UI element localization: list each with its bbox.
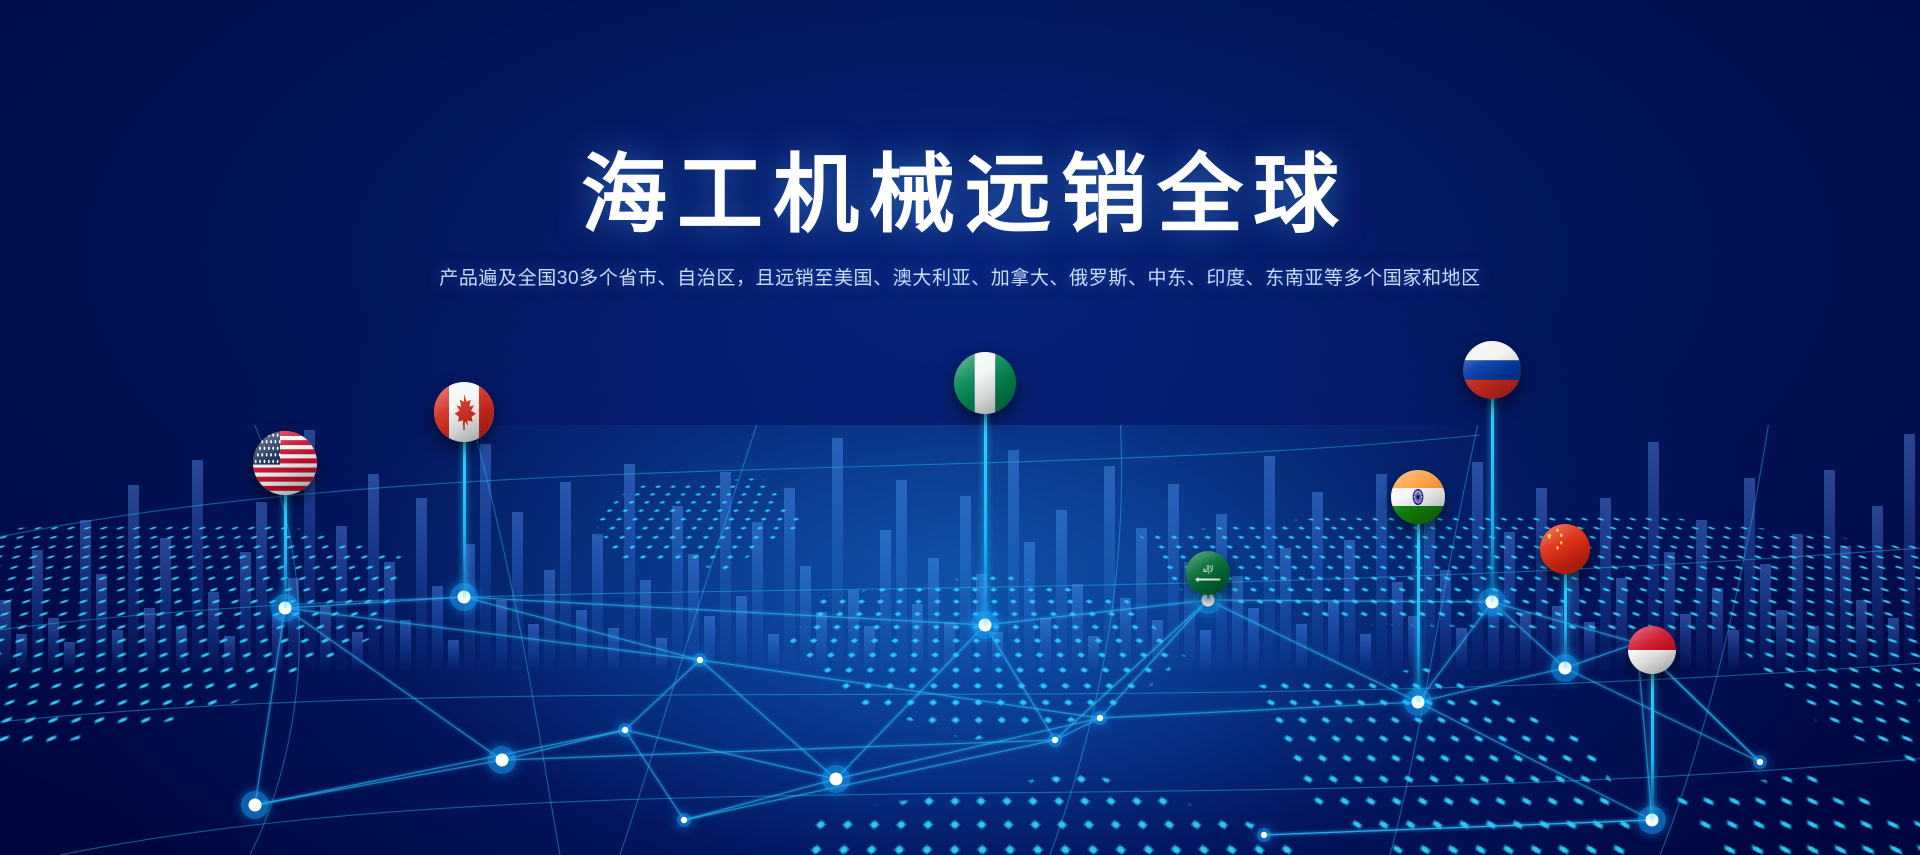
chart-bar — [128, 485, 139, 670]
chart-bar — [576, 610, 587, 670]
chart-bar — [368, 474, 379, 670]
chart-bar — [272, 614, 283, 670]
pin-canada[interactable] — [0, 0, 1920, 855]
chart-bar — [544, 570, 555, 670]
chart-bar — [1712, 588, 1723, 670]
chart-bar — [1232, 576, 1243, 670]
network-link — [625, 730, 836, 779]
node-nigeria[interactable] — [979, 619, 992, 632]
chart-bar — [448, 640, 459, 670]
map-arc — [0, 435, 1480, 545]
chart-bar — [176, 626, 187, 670]
network-link — [684, 779, 836, 820]
node-japan[interactable] — [1757, 759, 1763, 765]
chart-bar — [432, 586, 443, 670]
chart-bar — [1616, 578, 1627, 670]
chart-bar — [1168, 484, 1179, 670]
network-link — [502, 740, 1055, 760]
network-link — [464, 597, 985, 625]
chart-bar — [1104, 466, 1115, 670]
node-australia-halo — [1257, 828, 1271, 842]
chart-bar — [848, 590, 859, 670]
pin-india-flag-icon[interactable] — [1391, 470, 1445, 524]
node-west-africa[interactable] — [681, 817, 687, 823]
network-link — [255, 730, 625, 805]
chart-bar — [1280, 548, 1291, 670]
chart-bar — [16, 634, 27, 670]
chart-bar — [1536, 488, 1547, 670]
node-japan-halo — [1753, 755, 1767, 769]
map-arc — [60, 755, 1920, 855]
headline-block: 海工机械远销全球 产品遍及全国30多个省市、自治区，且远销至美国、澳大利亚、加拿… — [0, 150, 1920, 290]
node-africa-s[interactable] — [1052, 737, 1058, 743]
chart-bar — [1360, 634, 1371, 670]
map-perspective-plane — [0, 425, 1920, 431]
chart-bar — [1200, 630, 1211, 670]
chart-bar — [112, 630, 123, 670]
node-brazil[interactable] — [496, 754, 509, 767]
chart-bar — [1744, 478, 1755, 670]
network-link — [1492, 602, 1637, 643]
map-dot-matrix — [0, 425, 1920, 431]
pin-nigeria-flag-icon[interactable] — [954, 352, 1016, 414]
chart-bar — [496, 600, 507, 670]
network-link — [1100, 702, 1418, 718]
chart-bar — [1088, 636, 1099, 670]
chart-bar — [1840, 546, 1851, 670]
chart-bar — [672, 506, 683, 670]
chart-bar — [1728, 630, 1739, 670]
network-link — [285, 608, 700, 660]
node-china-halo — [1551, 654, 1579, 682]
pin-canada-stem — [463, 438, 466, 597]
chart-bar — [816, 612, 827, 670]
chart-bar — [1056, 510, 1067, 670]
chart-bar — [608, 628, 619, 670]
node-saudi[interactable] — [1202, 594, 1215, 607]
chart-bar — [1888, 618, 1899, 670]
chart-bar — [96, 574, 107, 670]
chart-bar — [1376, 474, 1387, 670]
pin-saudi-flag-icon[interactable]: لاإله — [1186, 551, 1230, 595]
chart-bar — [64, 642, 75, 670]
chart-bar — [640, 580, 651, 670]
node-nigeria-halo — [971, 611, 999, 639]
chart-bar — [320, 606, 331, 670]
network-link — [1492, 602, 1565, 668]
chart-bar — [32, 550, 43, 670]
chart-bar — [864, 626, 875, 670]
node-canada[interactable] — [458, 591, 471, 604]
network-link — [625, 660, 700, 730]
chart-bar — [832, 438, 843, 670]
pin-usa[interactable] — [0, 0, 1920, 855]
pin-russia-flag-icon[interactable] — [1463, 341, 1521, 399]
network-link — [255, 760, 502, 805]
chart-bar — [1248, 608, 1259, 670]
chart-bar — [1392, 582, 1403, 670]
chart-bar — [256, 502, 267, 670]
pin-china[interactable] — [0, 0, 1920, 855]
page-title: 海工机械远销全球 — [0, 150, 1920, 241]
node-russia-halo — [1478, 588, 1506, 616]
node-india[interactable] — [1412, 696, 1425, 709]
chart-bar — [992, 632, 1003, 670]
node-russia[interactable] — [1486, 596, 1499, 609]
chart-bar — [192, 460, 203, 670]
chart-bar — [944, 622, 955, 670]
node-australia[interactable] — [1261, 832, 1267, 838]
network-link — [285, 597, 464, 608]
network-link — [1418, 702, 1652, 820]
chart-bar — [736, 596, 747, 670]
chart-bar — [1472, 462, 1483, 670]
chart-bar — [1824, 470, 1835, 670]
hero-banner: لاإله 海工机械远销全球 产品遍及全国30多个省市、自治区，且远销至美国、澳… — [0, 0, 1920, 855]
network-link — [836, 718, 1100, 779]
node-atlantic-halo — [618, 723, 632, 737]
chart-bar — [0, 600, 11, 670]
map-arc — [1660, 425, 1770, 855]
chart-bar — [896, 480, 907, 670]
chart-bar — [48, 618, 59, 670]
chart-bar — [912, 604, 923, 670]
network-link — [700, 660, 836, 779]
chart-bar — [1264, 456, 1275, 670]
chart-bar — [1808, 626, 1819, 670]
node-usa-halo — [271, 594, 299, 622]
chart-bar — [384, 562, 395, 670]
chart-bar — [592, 534, 603, 670]
pin-china-flag-icon[interactable] — [1540, 524, 1590, 574]
node-africa-s-halo — [1048, 733, 1062, 747]
network-link — [1264, 820, 1652, 835]
pin-usa-stem — [284, 491, 287, 608]
node-uk[interactable] — [697, 657, 703, 663]
chart-bar — [976, 574, 987, 670]
chart-bar — [1904, 434, 1915, 670]
network-link — [1565, 668, 1760, 762]
node-usa[interactable] — [279, 602, 292, 615]
page-subtitle: 产品遍及全国30多个省市、自治区，且远销至美国、澳大利亚、加拿大、俄罗斯、中东、… — [0, 263, 1920, 290]
chart-bar — [160, 538, 171, 670]
chart-bar — [1584, 622, 1595, 670]
chart-bar — [1872, 506, 1883, 670]
node-india-halo — [1404, 688, 1432, 716]
network-link — [502, 730, 625, 760]
chart-bar — [1008, 450, 1019, 670]
chart-bar — [1456, 628, 1467, 670]
node-indonesia[interactable] — [1646, 814, 1659, 827]
chart-bar — [1680, 614, 1691, 670]
map-arc — [1050, 425, 1122, 855]
pin-nigeria-stem — [984, 410, 987, 625]
network-link — [285, 608, 502, 760]
node-midEast[interactable] — [1097, 715, 1103, 721]
chart-bar — [1344, 540, 1355, 670]
chart-bar — [1120, 598, 1131, 670]
chart-bar — [768, 634, 779, 670]
chart-bar — [480, 444, 491, 670]
node-europe-halo — [822, 765, 850, 793]
network-link — [255, 608, 285, 805]
chart-bar — [1856, 600, 1867, 670]
network-link — [625, 730, 684, 820]
node-canada-halo — [450, 583, 478, 611]
chart-bar — [352, 632, 363, 670]
network-link — [1055, 718, 1100, 740]
pin-india[interactable] — [0, 0, 1920, 855]
chart-bar — [800, 566, 811, 670]
map-arc — [470, 425, 560, 855]
chart-bar — [1040, 618, 1051, 670]
chart-bar — [1152, 620, 1163, 670]
chart-bar — [1136, 528, 1147, 670]
chart-bar — [784, 488, 795, 670]
chart-bar — [752, 522, 763, 670]
pin-saudi[interactable]: لاإله — [0, 0, 1920, 855]
network-link — [1565, 643, 1637, 668]
chart-bar — [1488, 594, 1499, 670]
chart-bar — [528, 624, 539, 670]
chart-bar — [960, 496, 971, 670]
chart-bar — [1520, 612, 1531, 670]
pin-russia-stem — [1491, 395, 1494, 602]
pin-india-stem — [1417, 520, 1420, 702]
svg-text:لاإله: لاإله — [1203, 564, 1214, 575]
node-brazil-halo — [488, 746, 516, 774]
pin-indonesia-flag-icon[interactable] — [1628, 626, 1676, 674]
chart-bar — [1696, 520, 1707, 670]
network-link — [985, 600, 1208, 625]
chart-bar — [1440, 570, 1451, 670]
pin-canada-flag-icon[interactable] — [434, 382, 494, 442]
chart-bar — [512, 512, 523, 670]
node-indonesia-halo — [1638, 806, 1666, 834]
chart-bar — [560, 482, 571, 670]
chart-bar — [1024, 542, 1035, 670]
node-west-africa-halo — [677, 813, 691, 827]
chart-bar — [928, 558, 939, 670]
chart-bar — [400, 620, 411, 670]
network-link — [1264, 820, 1652, 835]
network-link — [1055, 600, 1208, 740]
node-mexico-halo — [241, 791, 269, 819]
pin-indonesia[interactable] — [0, 0, 1920, 855]
map-arc — [0, 545, 1920, 635]
chart-bar — [1552, 606, 1563, 670]
chart-bar — [1504, 532, 1515, 670]
chart-bar — [416, 498, 427, 670]
node-midEast-halo — [1093, 711, 1107, 725]
chart-bar — [1760, 564, 1771, 670]
chart-bar — [1776, 610, 1787, 670]
network-link — [700, 660, 1100, 718]
chart-bar — [1072, 584, 1083, 670]
network-link — [464, 597, 700, 660]
chart-bar — [720, 472, 731, 670]
chart-bar — [1296, 624, 1307, 670]
chart-bar — [464, 544, 475, 670]
chart-bar — [656, 638, 667, 670]
chart-bar — [624, 464, 635, 670]
chart-bar — [1312, 492, 1323, 670]
node-mexico[interactable] — [249, 799, 262, 812]
node-atlantic[interactable] — [622, 727, 628, 733]
chart-bar — [240, 552, 251, 670]
pin-russia[interactable] — [0, 0, 1920, 855]
node-china[interactable] — [1559, 662, 1572, 675]
chart-bar — [80, 520, 91, 670]
network-link — [1418, 668, 1565, 702]
chart-bar — [1600, 498, 1611, 670]
map-arc — [0, 660, 1920, 725]
chart-bar — [288, 578, 299, 670]
network-link — [836, 625, 985, 779]
map-arc — [620, 425, 760, 855]
network-link — [1418, 602, 1492, 702]
chart-bar — [208, 592, 219, 670]
chart-bar — [1328, 602, 1339, 670]
node-europe[interactable] — [830, 773, 843, 786]
chart-bar — [880, 530, 891, 670]
network-link — [684, 740, 1055, 820]
chart-bar — [1424, 504, 1435, 670]
chart-bar — [1408, 616, 1419, 670]
network-link — [1208, 600, 1492, 602]
pin-indonesia-stem — [1651, 670, 1654, 820]
pin-china-stem — [1564, 570, 1567, 668]
chart-bar — [1792, 534, 1803, 670]
chart-bar — [704, 616, 715, 670]
network-link — [1100, 600, 1208, 718]
pin-nigeria[interactable] — [0, 0, 1920, 855]
chart-bar — [224, 636, 235, 670]
chart-bar — [144, 608, 155, 670]
chart-bar — [688, 554, 699, 670]
node-uk-halo — [693, 653, 707, 667]
chart-bar — [336, 526, 347, 670]
network-link — [1208, 600, 1418, 702]
network-link — [985, 625, 1055, 740]
pin-usa-flag-icon[interactable] — [253, 431, 317, 495]
